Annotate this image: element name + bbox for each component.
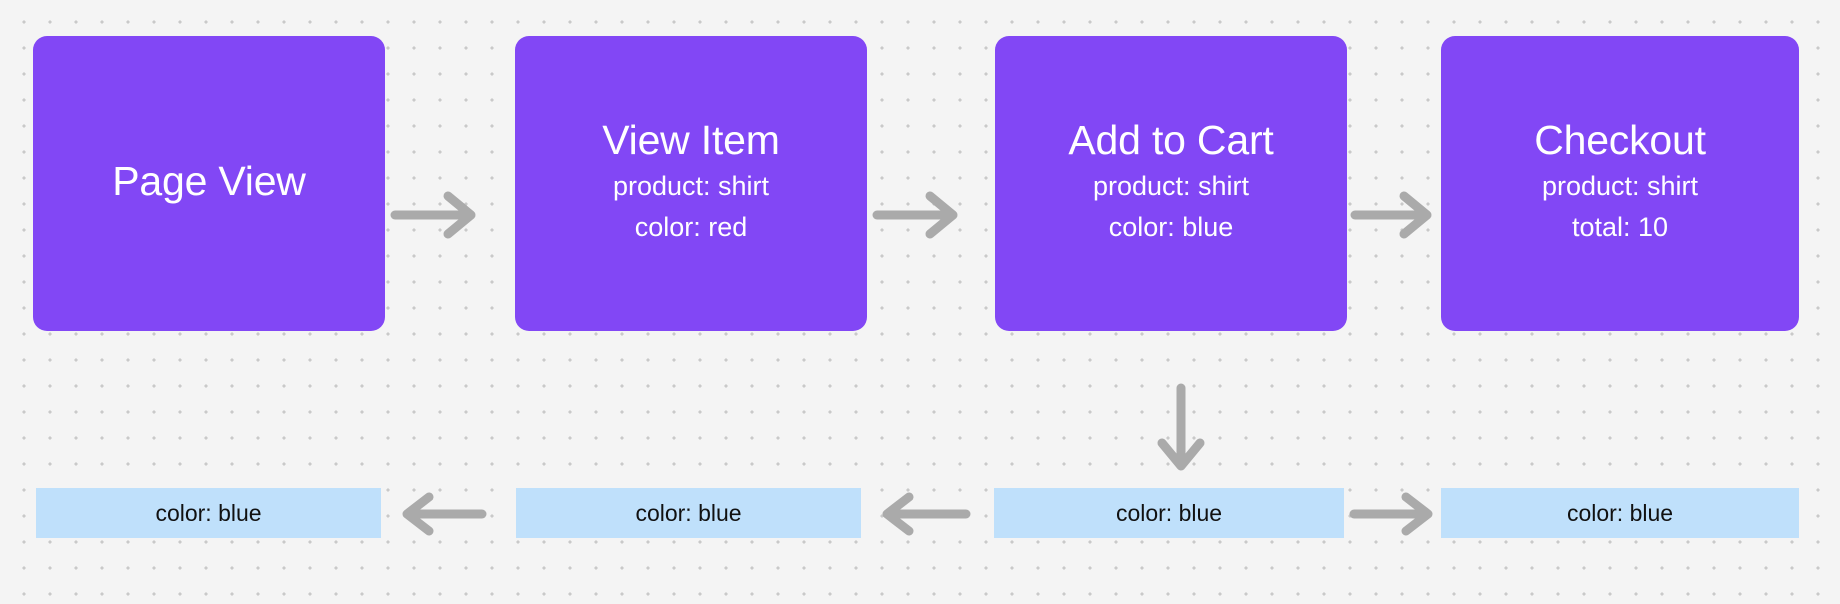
event-node-title: Checkout bbox=[1534, 119, 1706, 162]
arrow-left-icon bbox=[390, 496, 486, 532]
property-chip-label: color: blue bbox=[1116, 500, 1222, 527]
property-chip-label: color: blue bbox=[155, 500, 261, 527]
event-node-properties: product: shirt color: red bbox=[613, 166, 769, 248]
property-chip[interactable]: color: blue bbox=[994, 488, 1344, 538]
arrow-left-icon bbox=[870, 496, 970, 532]
property-chip[interactable]: color: blue bbox=[36, 488, 381, 538]
arrow-right-icon bbox=[1351, 188, 1439, 242]
event-node-checkout[interactable]: Checkout product: shirt total: 10 bbox=[1441, 36, 1799, 331]
arrow-right-icon bbox=[873, 188, 965, 242]
event-node-property: product: shirt bbox=[1093, 166, 1249, 207]
event-node-properties: product: shirt color: blue bbox=[1093, 166, 1249, 248]
event-node-property: color: blue bbox=[1109, 207, 1234, 248]
event-node-page-view[interactable]: Page View bbox=[33, 36, 385, 331]
event-node-properties: product: shirt total: 10 bbox=[1542, 166, 1698, 248]
event-node-add-to-cart[interactable]: Add to Cart product: shirt color: blue bbox=[995, 36, 1347, 331]
event-node-title: View Item bbox=[602, 119, 779, 162]
property-chip-label: color: blue bbox=[635, 500, 741, 527]
arrow-right-icon bbox=[1352, 496, 1442, 532]
property-chip-label: color: blue bbox=[1567, 500, 1673, 527]
event-node-view-item[interactable]: View Item product: shirt color: red bbox=[515, 36, 867, 331]
property-chip[interactable]: color: blue bbox=[1441, 488, 1799, 538]
event-node-title: Add to Cart bbox=[1068, 119, 1273, 162]
event-node-property: total: 10 bbox=[1572, 207, 1668, 248]
event-node-property: color: red bbox=[635, 207, 748, 248]
property-chip[interactable]: color: blue bbox=[516, 488, 861, 538]
arrow-right-icon bbox=[391, 188, 483, 242]
event-node-title: Page View bbox=[112, 160, 305, 203]
flow-diagram-canvas: Page View View Item product: shirt color… bbox=[0, 0, 1840, 604]
event-node-property: product: shirt bbox=[1542, 166, 1698, 207]
arrow-down-icon bbox=[1152, 384, 1210, 480]
event-node-property: product: shirt bbox=[613, 166, 769, 207]
